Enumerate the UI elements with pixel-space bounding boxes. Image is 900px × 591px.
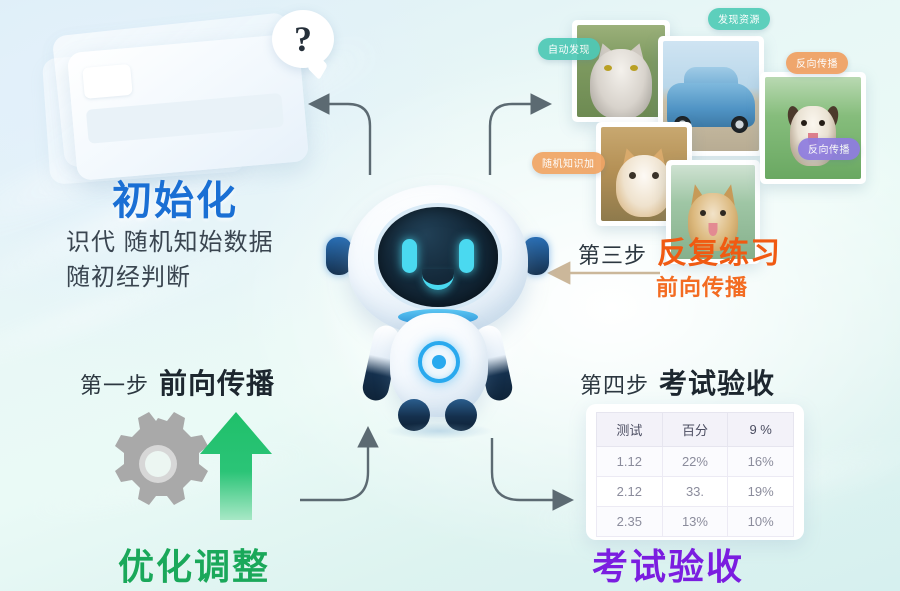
table-row: 1.12 22% 16% [597,447,794,477]
car-wheel-rear [731,116,748,133]
step-four-number: 第四步 [580,368,649,400]
result-table-card: 测试 百分 9 % 1.12 22% 16% 2.12 33. 19% 2.35 [586,404,804,540]
table-cell: 19% [728,477,794,507]
robot-visor [378,207,498,307]
question-mark-icon: ? [294,21,312,57]
robot-eye-right [459,239,474,273]
table-header-cell: 9 % [728,413,794,447]
table-cell: 1.12 [597,447,663,477]
step-three-title: 反复练习 [657,228,781,272]
gear-icon [115,412,208,505]
up-arrow-icon [200,412,272,520]
step-one-title: 前向传播 [159,362,275,402]
photo-collage: 自动发现 发现资源 反向传播 随机知识加 反向传播 [560,0,900,200]
collage-tag-random-knowledge: 随机知识加 [532,152,605,174]
step-one: 第一步 前向传播 [80,362,275,402]
footer-heading-exam: 考试验收 [592,538,744,590]
table-cell: 10% [728,507,794,537]
step-three-number: 第三步 [578,238,647,270]
collage-tag-discover-resource: 发现资源 [708,8,770,30]
table-row: 2.35 13% 10% [597,507,794,537]
robot-mascot [330,185,545,435]
table-row: 2.12 33. 19% [597,477,794,507]
arrow-robot-to-exam [492,438,562,500]
cat-body [616,155,672,217]
card-chip [82,64,133,99]
optimize-illustration [110,408,290,528]
init-heading: 初始化 [112,168,238,226]
collage-tag-backprop-purple: 反向传播 [798,138,860,160]
card-front [67,33,309,181]
robot-chest-light-icon [418,341,460,383]
init-line-1: 识代 随机知始数据 [66,226,274,261]
step-four: 第四步 考试验收 [580,362,775,402]
robot-eye-left [402,239,417,273]
table-cell: 13% [662,507,728,537]
init-description: 识代 随机知始数据 随初经判断 [66,226,274,296]
data-card-stack: ? [40,16,330,186]
table-cell: 16% [728,447,794,477]
dog-eye-left [801,120,807,126]
table-cell: 22% [662,447,728,477]
collage-tag-backprop-orange: 反向传播 [786,52,848,74]
question-bubble: ? [272,10,334,68]
footer-heading-optimize: 优化调整 [118,538,270,590]
photo-dog-beagle-image [765,77,861,179]
step-three: 第三步 反复练习 [578,228,781,272]
photo-dog-beagle [760,72,866,184]
table-header-cell: 测试 [597,413,663,447]
result-table: 测试 百分 9 % 1.12 22% 16% 2.12 33. 19% 2.35 [596,412,794,537]
infographic-canvas: ? [0,0,900,591]
robot-shadow [386,423,492,439]
table-header-row: 测试 百分 9 % [597,413,794,447]
dog-eye-right [720,210,726,216]
init-line-2: 随初经判断 [66,261,274,296]
step-one-number: 第一步 [80,368,149,400]
cat-body [590,49,652,117]
table-cell: 33. [662,477,728,507]
photo-cat-fluffy [572,20,670,122]
card-bar [86,93,284,144]
collage-tag-auto-discover: 自动发现 [538,38,600,60]
step-four-title: 考试验收 [659,362,775,402]
table-cell: 2.12 [597,477,663,507]
table-cell: 2.35 [597,507,663,537]
table-header-cell: 百分 [662,413,728,447]
step-three-subtitle: 前向传播 [656,270,748,302]
robot-smile [422,269,454,290]
cat-eye-right [652,172,659,179]
arrow-optimize-to-robot [300,438,368,500]
